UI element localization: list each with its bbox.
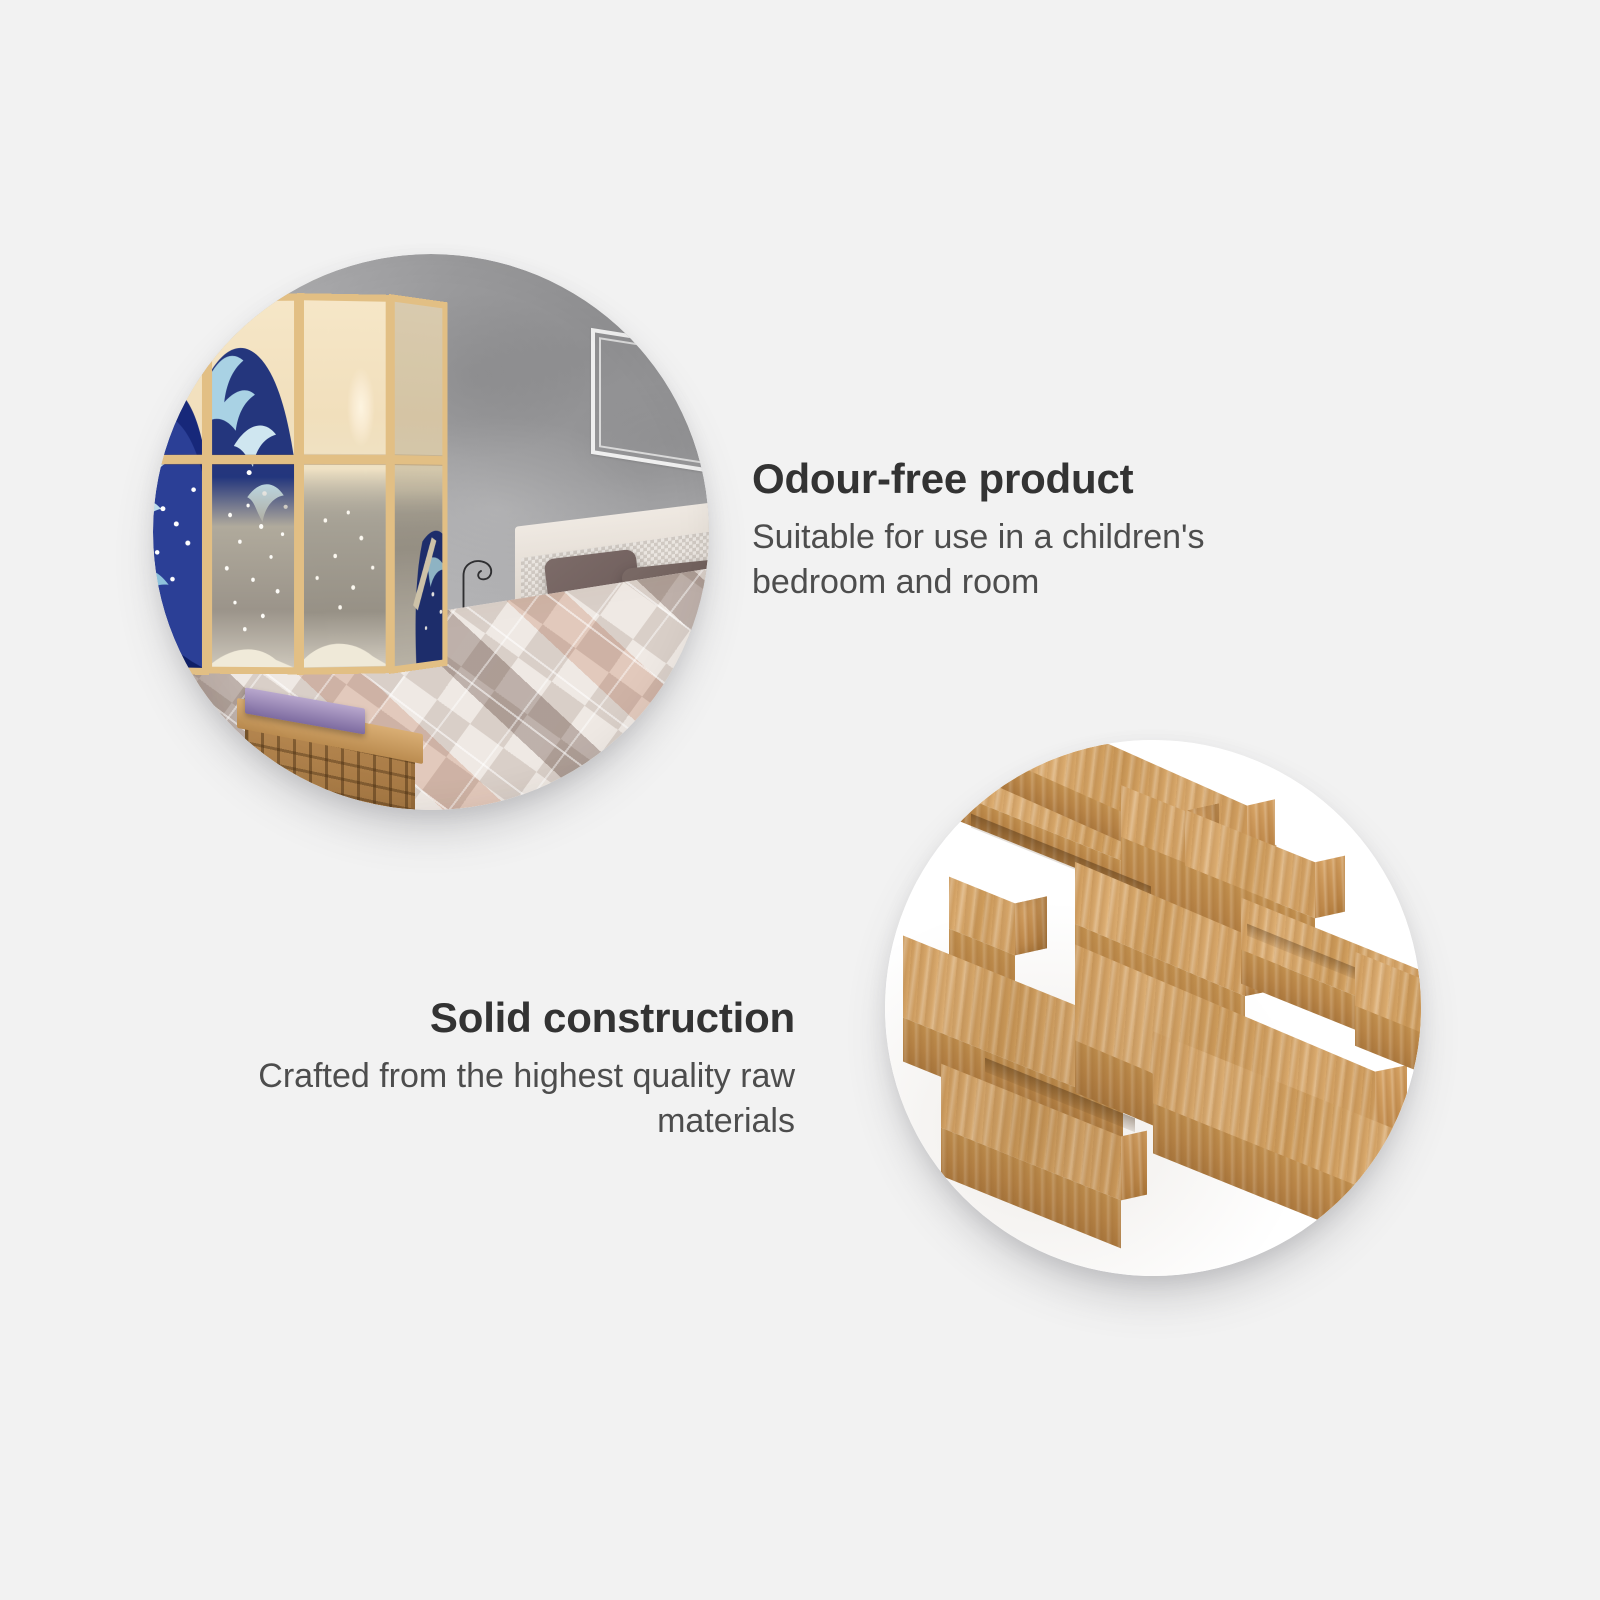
feature-odour-free-text: Odour-free product Suitable for use in a…	[752, 456, 1312, 605]
wood-beams-scene	[885, 740, 1421, 1276]
photo-clip	[885, 740, 1421, 1276]
feature-solid-construction-description: Crafted from the highest quality raw mat…	[235, 1054, 795, 1144]
artwork-sun	[347, 367, 375, 448]
photo-clip	[153, 254, 709, 810]
panel-3-foam-dots	[304, 469, 386, 667]
divider-panel-4	[389, 294, 448, 674]
folding-room-divider	[153, 294, 463, 674]
feature-odour-free-heading: Odour-free product	[752, 456, 1312, 502]
feature-solid-construction-heading: Solid construction	[235, 995, 795, 1041]
feature-odour-free-description: Suitable for use in a children's bedroom…	[752, 515, 1312, 605]
bedroom-with-folding-screen-photo	[153, 254, 709, 810]
divider-panel-1	[153, 293, 209, 675]
feature-solid-construction-text: Solid construction Crafted from the high…	[235, 995, 795, 1144]
divider-panel-3	[297, 293, 393, 675]
wall-picture-frame	[591, 328, 709, 474]
divider-panel-2	[205, 294, 301, 675]
great-wave-art-left	[153, 293, 209, 675]
wood-block-left	[949, 877, 1015, 956]
panel-2-foam-dots	[212, 477, 294, 668]
infographic-canvas: Odour-free product Suitable for use in a…	[0, 0, 1600, 1600]
stacked-wooden-beams-photo	[885, 740, 1421, 1276]
panel-4-shade	[395, 302, 443, 666]
bedroom-scene	[153, 254, 709, 810]
